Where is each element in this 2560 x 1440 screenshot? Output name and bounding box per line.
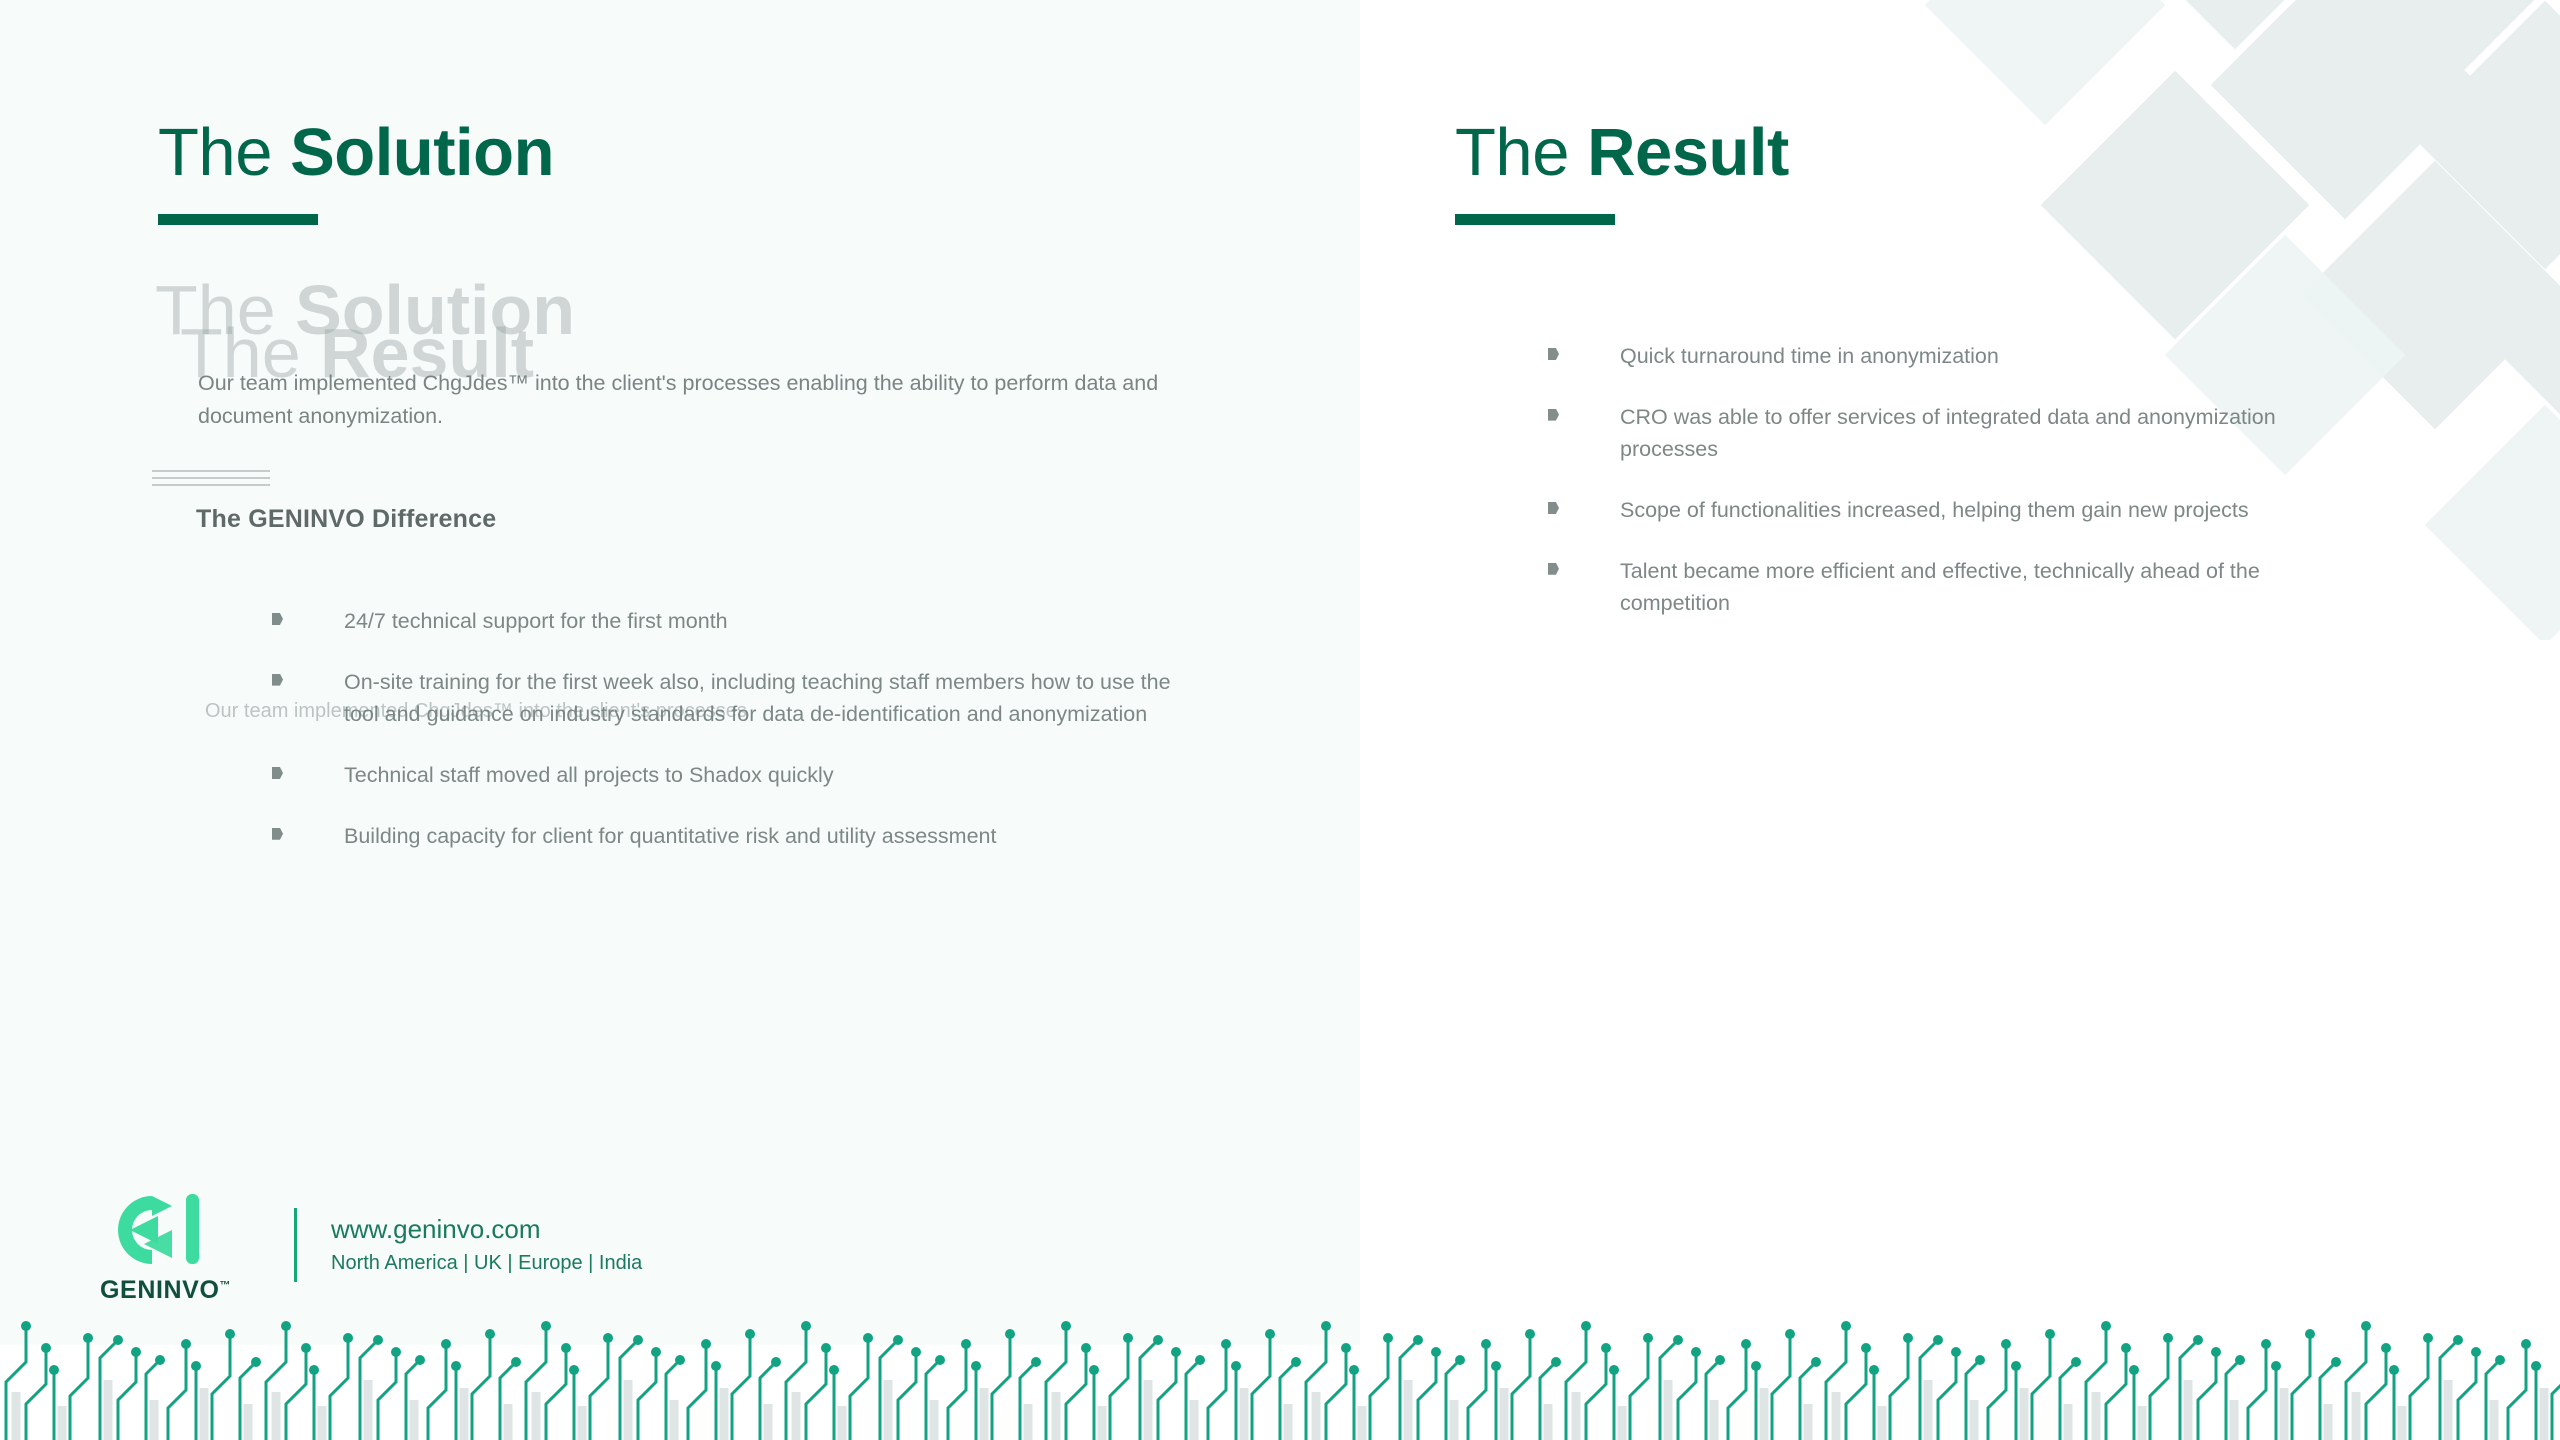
list-item-label: Technical staff moved all projects to Sh… (344, 763, 834, 787)
solution-column: The Solution (158, 118, 1238, 225)
arrow-bullet-icon (272, 766, 287, 781)
arrow-bullet-icon (272, 827, 287, 842)
list-item-label: On-site training for the first week also… (344, 670, 1171, 727)
arrow-bullet-icon (272, 612, 287, 627)
solution-heading-rule (158, 214, 318, 225)
arrow-bullet-icon (1548, 562, 1563, 577)
geninvo-wordmark: GENINVO™ (100, 1276, 231, 1305)
footer-url[interactable]: www.geninvo.com (331, 1213, 642, 1247)
solution-heading: The Solution (158, 118, 1238, 188)
geninvo-logo: GENINVO™ (100, 1186, 242, 1305)
solution-heading-thin: The (158, 115, 272, 190)
footer-contact: www.geninvo.com North America | UK | Eur… (331, 1213, 642, 1277)
list-item: Quick turnaround time in anonymization (1548, 340, 2338, 373)
footer: GENINVO™ www.geninvo.com North America |… (100, 1180, 642, 1310)
list-item: Scope of functionalities increased, help… (1548, 494, 2338, 527)
list-item: CRO was able to offer services of integr… (1548, 401, 2338, 466)
footer-divider (294, 1208, 297, 1282)
solution-paragraph: Our team implemented ChgJdes™ into the c… (198, 367, 1198, 434)
list-item-label: 24/7 technical support for the first mon… (344, 609, 728, 633)
list-item: Building capacity for client for quantit… (272, 820, 1202, 853)
thin-rule-2 (152, 477, 270, 479)
circuit-pattern-svg (0, 1308, 2560, 1440)
slide-canvas: The Solution The Solution The Result Our… (0, 0, 2560, 1440)
result-bullet-list: Quick turnaround time in anonymization C… (1548, 340, 2338, 648)
trademark-symbol: ™ (220, 1279, 232, 1291)
solution-thin-rules (152, 470, 270, 491)
thin-rule-3 (152, 484, 270, 486)
arrow-bullet-icon (1548, 408, 1563, 423)
list-item-label: Scope of functionalities increased, help… (1620, 498, 2249, 522)
result-column: The Result (1455, 118, 2375, 225)
result-heading-thin: The (1455, 115, 1569, 190)
footer-regions: North America | UK | Europe | India (331, 1249, 642, 1277)
circuit-pattern-strip (0, 1308, 2560, 1440)
arrow-bullet-icon (1548, 347, 1563, 362)
result-heading-bold: Result (1587, 115, 1789, 190)
list-item-label: Building capacity for client for quantit… (344, 824, 996, 848)
geninvo-logo-icon (100, 1186, 220, 1274)
list-item: On-site training for the first week also… (272, 666, 1202, 731)
list-item-label: Talent became more efficient and effecti… (1620, 559, 2260, 616)
solution-heading-bold: Solution (290, 115, 554, 190)
result-heading: The Result (1455, 118, 2375, 188)
thin-rule-1 (152, 470, 270, 472)
list-item-label: Quick turnaround time in anonymization (1620, 344, 1999, 368)
list-item: Technical staff moved all projects to Sh… (272, 759, 1202, 792)
solution-bullet-list: 24/7 technical support for the first mon… (272, 605, 1202, 880)
list-item: Talent became more efficient and effecti… (1548, 555, 2338, 620)
geninvo-difference-subheading: The GENINVO Difference (196, 505, 496, 534)
list-item-label: CRO was able to offer services of integr… (1620, 405, 2276, 462)
result-heading-rule (1455, 214, 1615, 225)
list-item: 24/7 technical support for the first mon… (272, 605, 1202, 638)
arrow-bullet-icon (272, 673, 287, 688)
geninvo-wordmark-text: GENINVO (100, 1276, 220, 1304)
arrow-bullet-icon (1548, 501, 1563, 516)
